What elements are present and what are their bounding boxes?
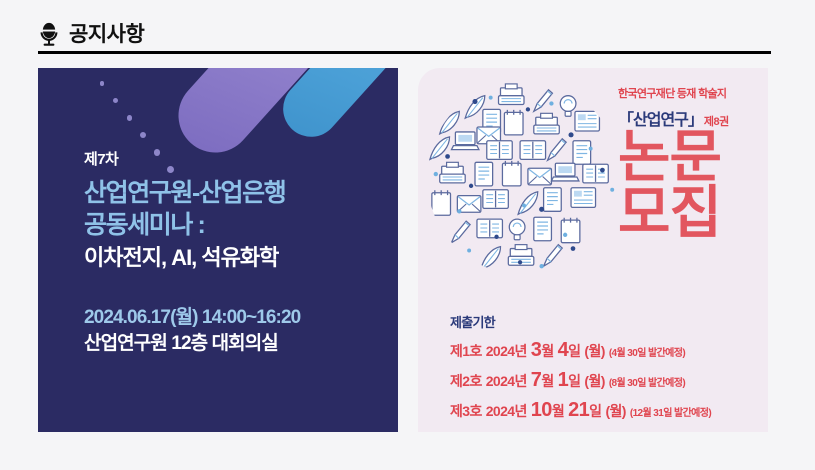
seminar-text-block: 제7차 산업연구원-산업은행 공동세미나 : 이차전지, AI, 석유화학 20…: [84, 151, 384, 357]
seminar-venue: 산업연구원 12층 대회의실: [84, 332, 384, 357]
seminar-edition: 제7차: [84, 151, 384, 169]
decorative-dot: [127, 115, 133, 121]
deadline-heading: 제출기한: [450, 315, 768, 332]
deadline-row: 제1호2024년3월4일(월)(4월 30일 발간예정): [450, 335, 768, 365]
journal-cta-headline: 논문 모집: [618, 130, 768, 242]
seminar-title-line-1: 산업연구원-산업은행: [84, 178, 384, 210]
decorative-dot: [113, 98, 118, 103]
decorative-dot: [100, 81, 105, 86]
journal-call-for-papers-card[interactable]: 한국연구재단 등재 학술지 「산업연구」 제8권 논문 모집 제출기한 제1호2…: [418, 68, 768, 432]
seminar-title-line-2: 공동세미나 :: [84, 210, 384, 242]
deadline-rows: 제1호2024년3월4일(월)(4월 30일 발간예정)제2호2024년7월1일…: [450, 335, 768, 425]
microphone-icon: [38, 21, 60, 47]
journal-kicker: 한국연구재단 등재 학술지: [618, 88, 766, 102]
deadline-row: 제3호2024년10월21일(월)(12월 31일 발간예정): [450, 395, 768, 425]
header-divider: [38, 51, 771, 54]
seminar-datetime: 2024.06.17(월) 14:00~16:20: [84, 306, 384, 331]
deadline-row: 제2호2024년7월1일(월)(8월 30일 발간예정): [450, 365, 768, 395]
seminar-banner-card[interactable]: 제7차 산업연구원-산업은행 공동세미나 : 이차전지, AI, 석유화학 20…: [38, 68, 398, 432]
research-icons-circle-illustration: [426, 80, 622, 276]
page-header: 공지사항: [38, 14, 778, 54]
page-title: 공지사항: [69, 24, 144, 45]
announcement-cards: 제7차 산업연구원-산업은행 공동세미나 : 이차전지, AI, 석유화학 20…: [38, 68, 771, 432]
submission-deadline-block: 제출기한 제1호2024년3월4일(월)(4월 30일 발간예정)제2호2024…: [450, 315, 768, 425]
journal-heading-block: 한국연구재단 등재 학술지 「산업연구」 제8권: [618, 88, 766, 130]
decorative-dot: [140, 132, 146, 138]
seminar-subtitle: 이차전지, AI, 석유화학: [84, 244, 384, 273]
journal-cta-line-2: 모집: [618, 186, 768, 242]
journal-cta-line-1: 논문: [618, 130, 768, 186]
